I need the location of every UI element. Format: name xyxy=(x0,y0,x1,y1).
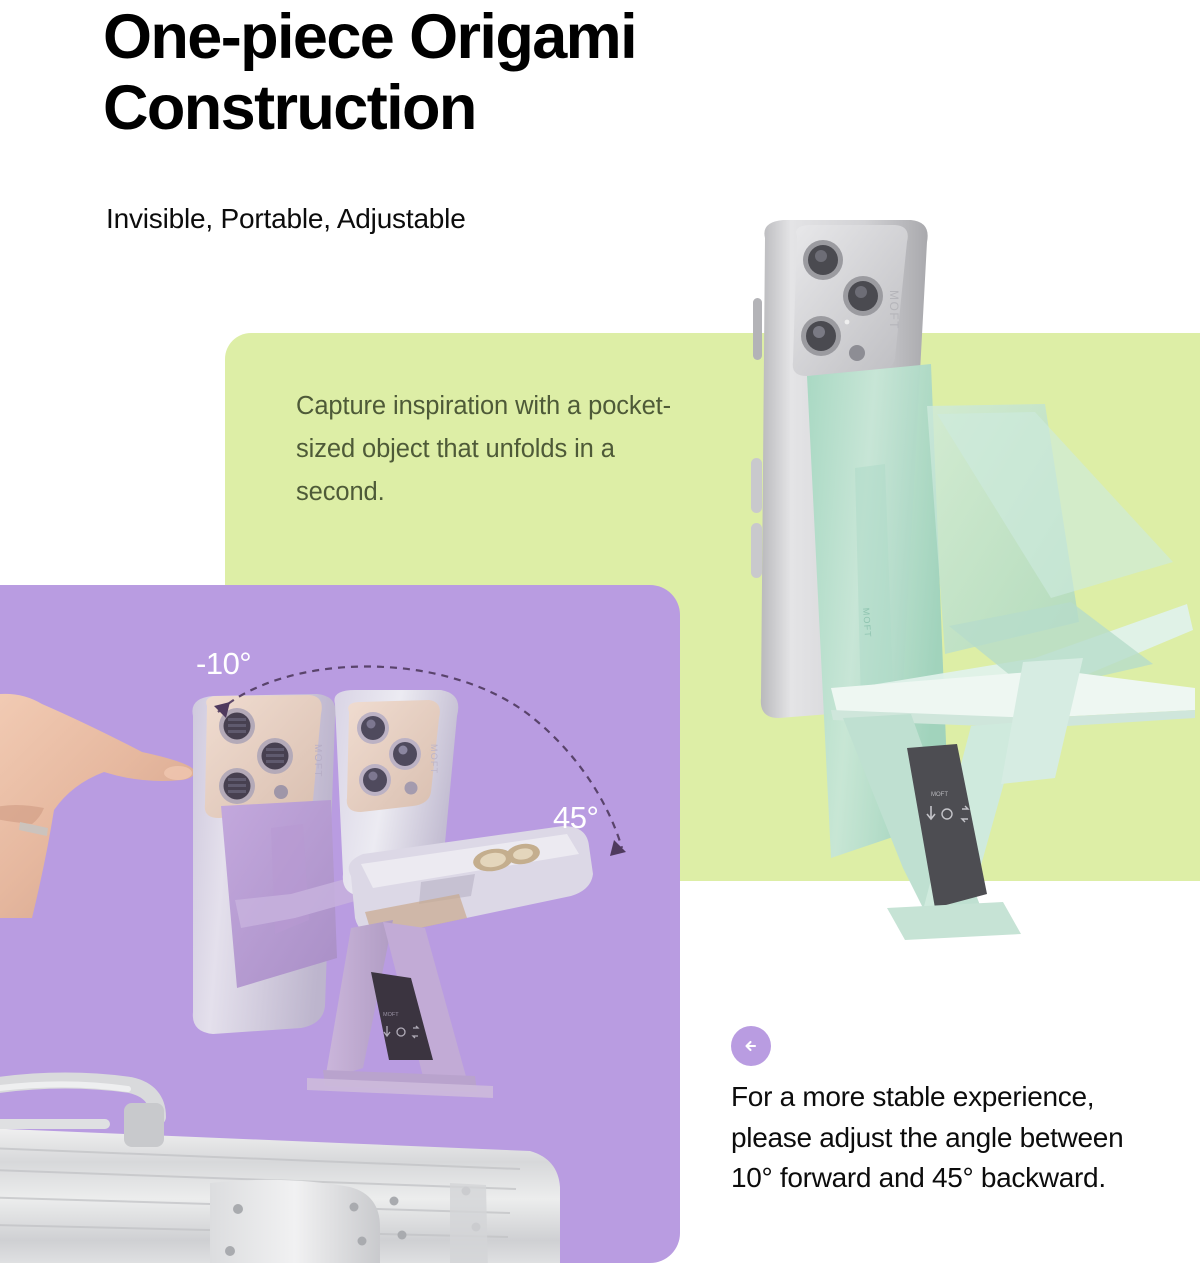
angle-max-label: 45° xyxy=(553,800,598,836)
pointing-hand xyxy=(0,690,202,920)
green-phone-stand-illustration: MOFT MOFT MOFT xyxy=(735,218,1195,948)
page-title: One-piece Origami Construction xyxy=(103,2,863,143)
brand-mark-green: MOFT xyxy=(887,290,901,330)
stability-note: For a more stable experience, please adj… xyxy=(731,1077,1171,1199)
svg-text:MOFT: MOFT xyxy=(383,1012,399,1018)
page-subtitle: Invisible, Portable, Adjustable xyxy=(106,203,466,235)
svg-text:MOFT: MOFT xyxy=(931,792,948,798)
angle-min-label: -10° xyxy=(196,646,251,682)
arrow-left-icon xyxy=(731,1026,771,1066)
svg-text:MOFT: MOFT xyxy=(861,607,873,638)
green-card-copy: Capture inspiration with a pocket-sized … xyxy=(296,385,686,513)
marketing-panel: One-piece Origami Construction Invisible… xyxy=(0,0,1200,1281)
